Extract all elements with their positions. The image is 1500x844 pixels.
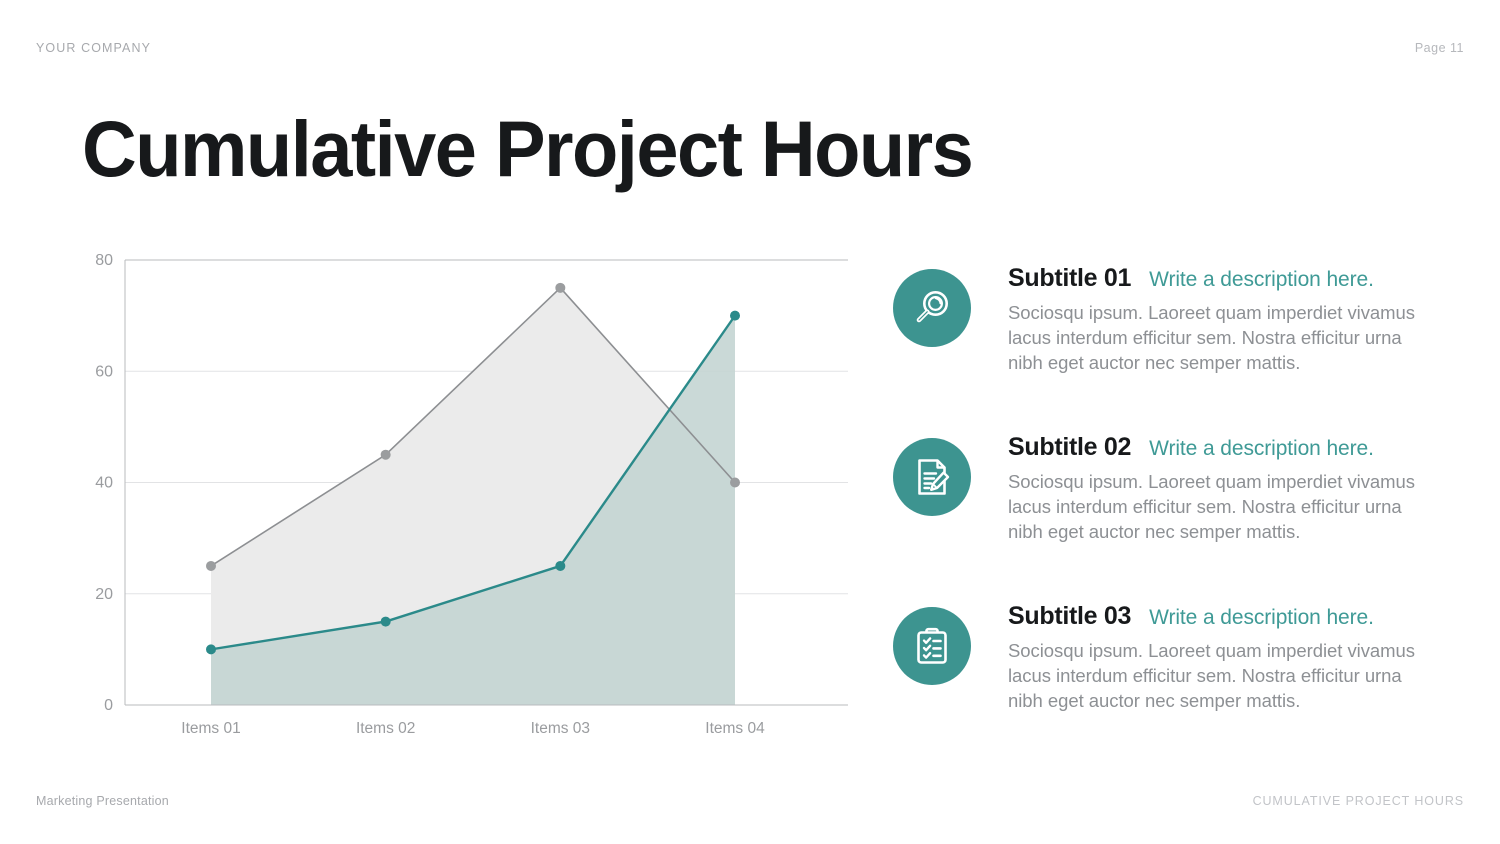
clipboard-checklist-icon	[910, 624, 954, 668]
feature-title-1: Subtitle 01	[1008, 264, 1131, 293]
clipboard-checklist-icon-badge	[893, 607, 971, 685]
feature-desc-3: Write a description here.	[1149, 606, 1374, 630]
feature-item-1[interactable]: Subtitle 01 Write a description here. So…	[893, 262, 1453, 375]
magnifier-icon	[910, 286, 954, 330]
data-point	[730, 478, 740, 488]
document-pencil-icon	[910, 455, 954, 499]
x-axis-tick-label: Items 03	[531, 720, 590, 737]
feature-body-3: Sociosqu ipsum. Laoreet quam imperdiet v…	[1008, 638, 1428, 713]
feature-body-2: Sociosqu ipsum. Laoreet quam imperdiet v…	[1008, 469, 1428, 544]
feature-item-3[interactable]: Subtitle 03 Write a description here. So…	[893, 600, 1453, 713]
data-point	[730, 311, 740, 321]
magnifier-icon-badge	[893, 269, 971, 347]
feature-title-3: Subtitle 03	[1008, 602, 1131, 631]
feature-body-1: Sociosqu ipsum. Laoreet quam imperdiet v…	[1008, 300, 1428, 375]
x-axis-tick-label: Items 02	[356, 720, 415, 737]
feature-text-2: Subtitle 02 Write a description here. So…	[971, 431, 1453, 544]
feature-desc-2: Write a description here.	[1149, 437, 1374, 461]
data-point	[381, 617, 391, 627]
feature-text-3: Subtitle 03 Write a description here. So…	[971, 600, 1453, 713]
data-point	[381, 450, 391, 460]
x-axis-tick-label: Items 01	[181, 720, 240, 737]
y-axis-tick-label: 60	[95, 363, 113, 380]
cumulative-hours-chart: 020406080Items 01Items 02Items 03Items 0…	[80, 248, 870, 743]
header-page-number: Page 11	[1415, 41, 1464, 55]
page-title: Cumulative Project Hours	[82, 104, 972, 194]
feature-headline-1: Subtitle 01 Write a description here.	[1008, 264, 1453, 293]
feature-list: Subtitle 01 Write a description here. So…	[893, 262, 1453, 713]
chart-svg: 020406080Items 01Items 02Items 03Items 0…	[80, 248, 870, 743]
slide-root: YOUR COMPANY Page 11 Cumulative Project …	[0, 0, 1500, 844]
y-axis-tick-label: 80	[95, 252, 113, 269]
footer-right-label: CUMULATIVE PROJECT HOURS	[1253, 794, 1464, 808]
feature-headline-3: Subtitle 03 Write a description here.	[1008, 602, 1453, 631]
data-point	[206, 561, 216, 571]
document-pencil-icon-badge	[893, 438, 971, 516]
data-point	[555, 283, 565, 293]
y-axis-tick-label: 0	[104, 697, 113, 714]
feature-text-1: Subtitle 01 Write a description here. So…	[971, 262, 1453, 375]
feature-headline-2: Subtitle 02 Write a description here.	[1008, 433, 1453, 462]
data-point	[206, 644, 216, 654]
feature-desc-1: Write a description here.	[1149, 268, 1374, 292]
header-company-label: YOUR COMPANY	[36, 41, 151, 55]
feature-title-2: Subtitle 02	[1008, 433, 1131, 462]
y-axis-tick-label: 40	[95, 475, 113, 492]
y-axis-tick-label: 20	[95, 586, 113, 603]
data-point	[555, 561, 565, 571]
feature-item-2[interactable]: Subtitle 02 Write a description here. So…	[893, 431, 1453, 544]
footer-left-label: Marketing Presentation	[36, 794, 169, 808]
x-axis-tick-label: Items 04	[705, 720, 765, 737]
